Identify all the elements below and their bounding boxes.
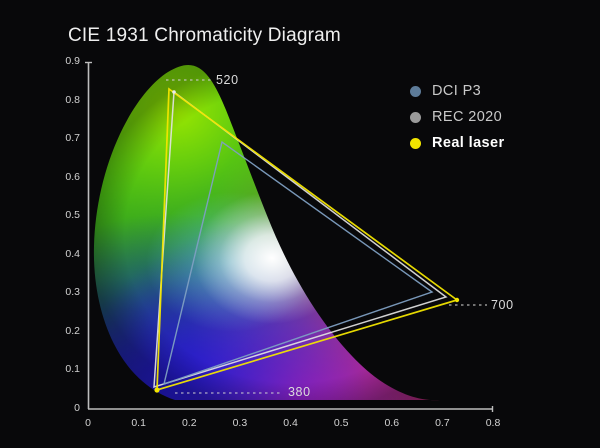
vertex-real-laser-blue [154,387,159,392]
wavelength-380-label: 380 [288,385,311,399]
chart-canvas: CIE 1931 Chromaticity Diagram [0,0,600,448]
y-tick-0.9: 0.9 [54,55,80,67]
y-tick-0.7: 0.7 [54,132,80,144]
legend-label-rec-2020: REC 2020 [432,109,502,125]
x-tick-0.6: 0.6 [379,417,405,429]
legend-label-dci-p3: DCI P3 [432,83,481,99]
legend-swatch-dci-p3 [410,86,421,97]
x-tick-0: 0 [75,417,101,429]
x-tick-0.8: 0.8 [480,417,506,429]
x-tick-0.3: 0.3 [227,417,253,429]
x-tick-0.7: 0.7 [429,417,455,429]
y-tick-0.2: 0.2 [54,325,80,337]
wavelength-700-label: 700 [491,298,514,312]
y-tick-0.1: 0.1 [54,363,80,375]
y-tick-0.4: 0.4 [54,248,80,260]
wavelength-520-label: 520 [216,73,239,87]
x-tick-0.1: 0.1 [126,417,152,429]
legend-swatch-real-laser [410,138,421,149]
legend-item-dci-p3[interactable]: DCI P3 [410,78,505,104]
legend-item-rec-2020[interactable]: REC 2020 [410,104,505,130]
y-tick-0: 0 [54,402,80,414]
cie-chromaticity-plot [0,0,600,448]
y-tick-0.6: 0.6 [54,171,80,183]
y-tick-0.5: 0.5 [54,209,80,221]
x-tick-0.5: 0.5 [328,417,354,429]
legend-item-real-laser[interactable]: Real laser [410,130,505,156]
y-tick-0.8: 0.8 [54,94,80,106]
legend: DCI P3 REC 2020 Real laser [410,78,505,156]
vertex-rec2020-green [172,90,176,94]
x-tick-0.4: 0.4 [278,417,304,429]
y-tick-0.3: 0.3 [54,286,80,298]
x-tick-0.2: 0.2 [176,417,202,429]
legend-label-real-laser: Real laser [432,135,505,151]
legend-swatch-rec-2020 [410,112,421,123]
vertex-real-laser-red [455,298,459,302]
